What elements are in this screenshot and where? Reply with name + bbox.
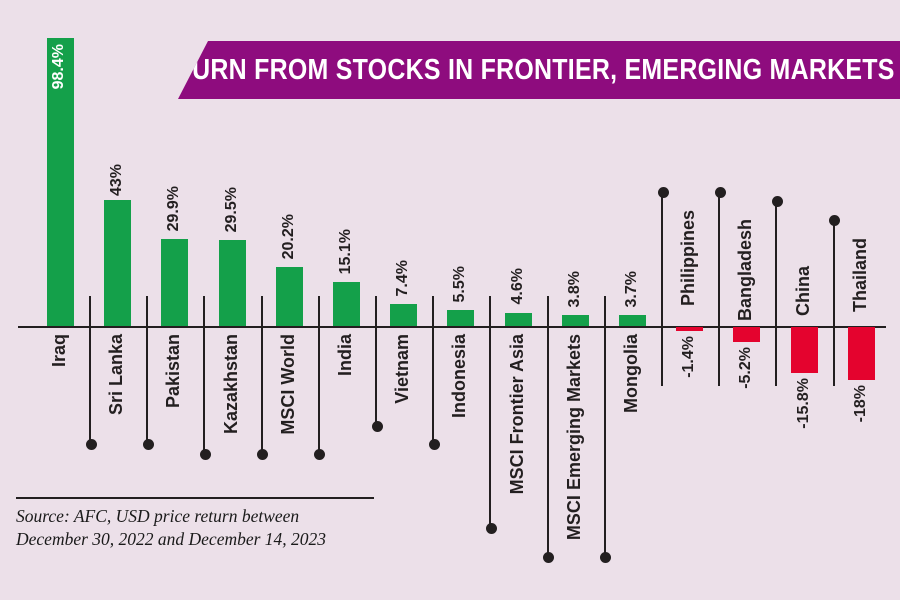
bar-category-label: Pakistan <box>164 334 182 408</box>
bar-value-label: 98.4% <box>51 44 67 89</box>
bar-category-label: MSCI Emerging Markets <box>565 334 583 540</box>
title-banner: RETURN FROM STOCKS IN FRONTIER, EMERGING… <box>178 41 900 99</box>
separator-dot <box>715 187 726 198</box>
bar-category-label: Vietnam <box>393 334 411 404</box>
category-separator <box>833 220 835 386</box>
bar <box>276 267 303 326</box>
bar <box>505 313 532 326</box>
separator-dot <box>314 449 325 460</box>
bar-category-label: India <box>336 334 354 376</box>
bar-category-label: MSCI World <box>279 334 297 435</box>
bar-value-label: 7.4% <box>395 260 411 296</box>
bar <box>676 327 703 331</box>
separator-dot <box>429 439 440 450</box>
bar <box>390 304 417 326</box>
bar <box>562 315 589 326</box>
separator-dot <box>600 552 611 563</box>
bar <box>161 239 188 326</box>
separator-dot <box>372 421 383 432</box>
separator-dot <box>143 439 154 450</box>
category-separator <box>146 296 148 444</box>
bar-value-label: 29.5% <box>224 187 240 232</box>
bar-value-label: 3.7% <box>624 271 640 307</box>
bar-category-label: Indonesia <box>450 334 468 418</box>
category-separator <box>432 296 434 444</box>
bar-category-label: Mongolia <box>622 334 640 413</box>
category-separator <box>489 296 491 528</box>
category-separator <box>89 296 91 444</box>
source-note: Source: AFC, USD price return between De… <box>16 497 386 551</box>
separator-dot <box>257 449 268 460</box>
bar-category-label: MSCI Frontier Asia <box>508 334 526 494</box>
bar-value-label: 5.5% <box>452 266 468 302</box>
infographic-canvas: 98.4%Iraq43%Sri Lanka29.9%Pakistan29.5%K… <box>0 0 900 600</box>
category-separator <box>203 296 205 454</box>
bar-value-label: 15.1% <box>338 229 354 274</box>
bar-category-label: Iraq <box>50 334 68 367</box>
separator-dot <box>200 449 211 460</box>
separator-dot <box>543 552 554 563</box>
category-separator <box>375 296 377 426</box>
bar-category-label: Philippines <box>679 210 697 306</box>
bar-value-label: 3.8% <box>567 271 583 307</box>
bar <box>619 315 646 326</box>
bar-value-label: 4.6% <box>510 268 526 304</box>
bar <box>333 282 360 326</box>
category-separator <box>718 192 720 386</box>
category-separator <box>547 296 549 557</box>
category-separator <box>261 296 263 454</box>
bar <box>447 310 474 326</box>
bar-value-label: -18% <box>853 385 869 422</box>
bar-value-label: 29.9% <box>166 186 182 231</box>
category-separator <box>318 296 320 454</box>
bar-category-label: Bangladesh <box>736 219 754 321</box>
category-separator <box>661 192 663 386</box>
bar-value-label: 20.2% <box>281 214 297 259</box>
bar-category-label: Sri Lanka <box>107 334 125 415</box>
bar <box>791 327 818 373</box>
bar <box>104 200 131 326</box>
category-separator <box>775 201 777 386</box>
source-line-2: December 30, 2022 and December 14, 2023 <box>16 528 386 551</box>
source-line-1: Source: AFC, USD price return between <box>16 505 386 528</box>
bar-value-label: -1.4% <box>681 336 697 378</box>
bar <box>848 327 875 380</box>
separator-dot <box>658 187 669 198</box>
page-title: RETURN FROM STOCKS IN FRONTIER, EMERGING… <box>142 54 900 87</box>
bar-category-label: Thailand <box>851 238 869 312</box>
category-separator <box>604 296 606 557</box>
bar-value-label: -5.2% <box>738 347 754 389</box>
bar <box>733 327 760 342</box>
bar <box>219 240 246 326</box>
separator-dot <box>86 439 97 450</box>
bar-category-label: Kazakhstan <box>222 334 240 434</box>
bar-category-label: China <box>794 266 812 316</box>
bar-value-label: -15.8% <box>796 378 812 429</box>
source-divider <box>16 497 374 499</box>
bar-value-label: 43% <box>109 164 125 196</box>
